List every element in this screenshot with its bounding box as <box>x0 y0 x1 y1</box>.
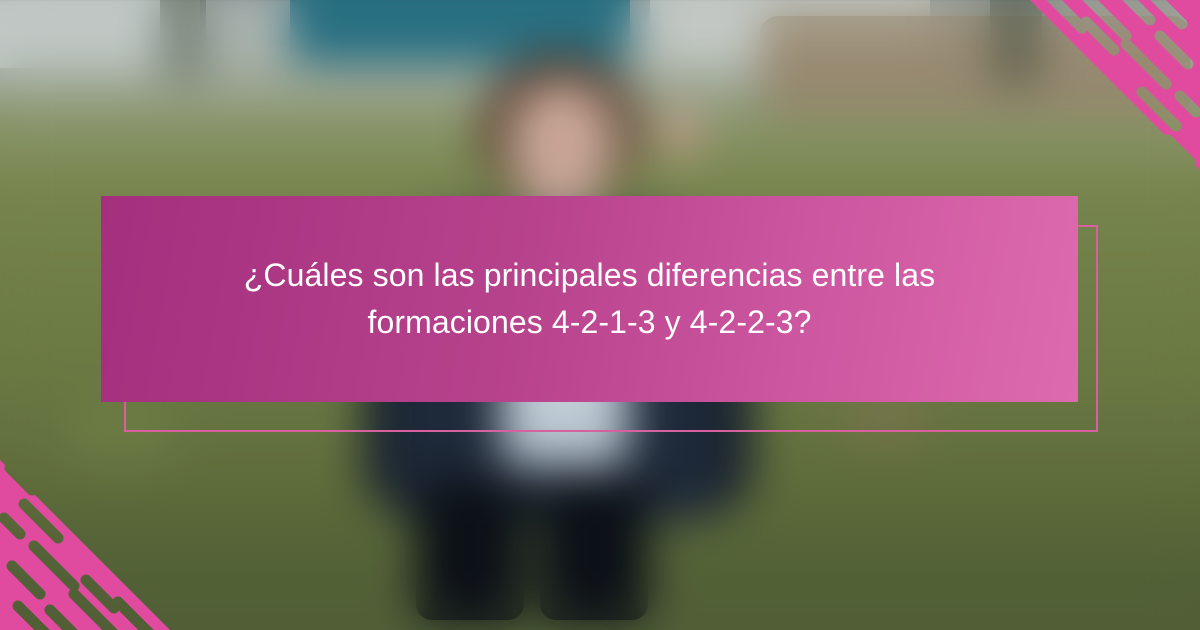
corner-decoration-top-right-icon <box>1030 0 1200 170</box>
question-card: ¿Cuáles son las principales diferencias … <box>101 196 1078 402</box>
corner-decoration-bottom-left-icon <box>0 460 170 630</box>
question-title: ¿Cuáles son las principales diferencias … <box>200 252 980 345</box>
